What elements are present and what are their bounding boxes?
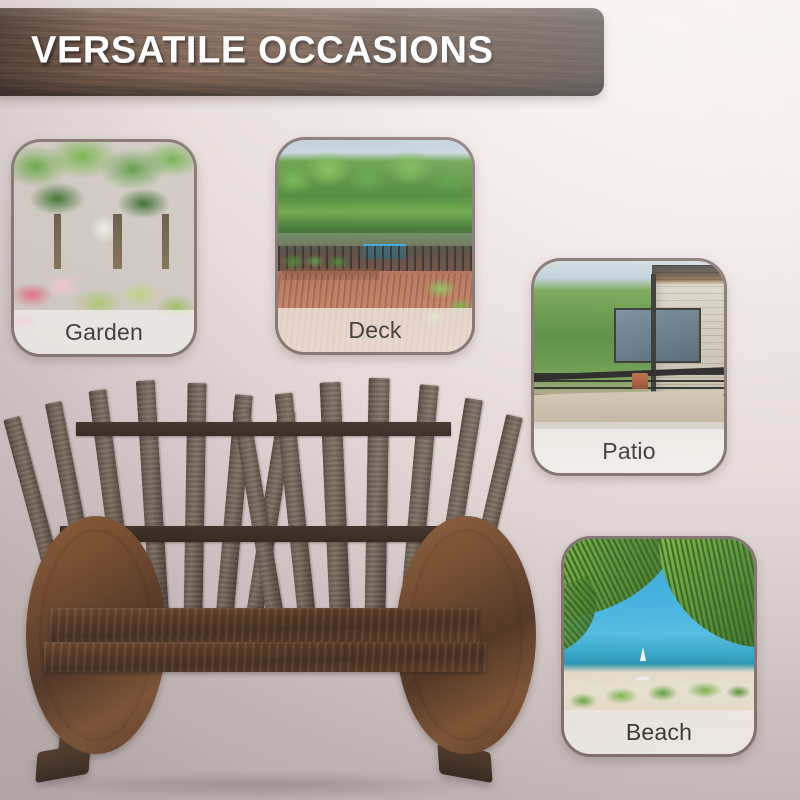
page-title: VERSATILE OCCASIONS xyxy=(31,30,494,73)
card-label-bar: Garden xyxy=(14,310,194,354)
seat-front-rail xyxy=(44,642,486,672)
bench-ground-shadow xyxy=(38,772,498,798)
scenario-card-beach[interactable]: Beach xyxy=(561,536,757,757)
card-label-patio: Patio xyxy=(602,438,655,465)
scenario-card-garden[interactable]: Garden xyxy=(11,139,197,357)
scenario-card-patio[interactable]: Patio xyxy=(531,258,727,476)
back-slat xyxy=(364,378,390,646)
card-label-deck: Deck xyxy=(348,317,401,344)
product-bench xyxy=(18,360,518,792)
card-label-garden: Garden xyxy=(65,319,143,346)
card-label-bar: Beach xyxy=(564,710,754,754)
seat-plank xyxy=(50,608,480,642)
header-banner: VERSATILE OCCASIONS xyxy=(0,8,604,96)
back-cross-rail-upper xyxy=(76,422,451,436)
sailboat-sail xyxy=(640,647,646,661)
card-label-beach: Beach xyxy=(626,719,692,746)
scenario-card-deck[interactable]: Deck xyxy=(275,137,475,355)
card-label-bar: Patio xyxy=(534,429,724,473)
card-label-bar: Deck xyxy=(278,308,472,352)
tree-line xyxy=(278,151,472,236)
terracotta-pot xyxy=(632,373,648,389)
palm-frond xyxy=(649,539,754,648)
house-window xyxy=(614,308,702,363)
marketing-image-canvas: VERSATILE OCCASIONS Garden Deck xyxy=(0,0,800,800)
